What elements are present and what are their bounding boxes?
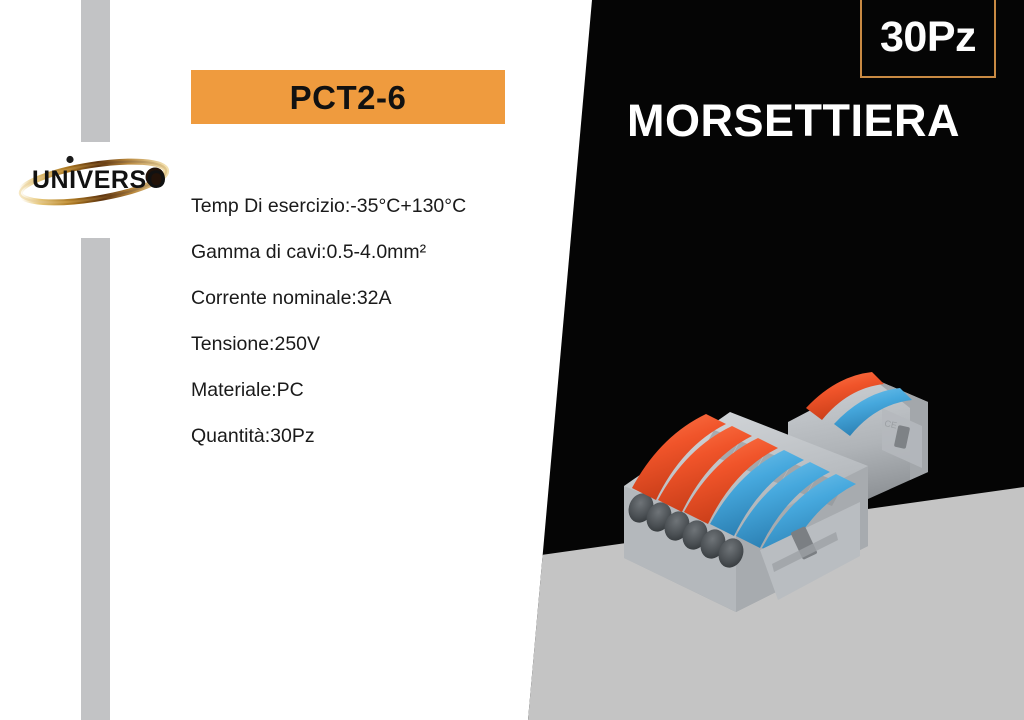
spec-line-quantity: Quantità:30Pz <box>191 427 551 447</box>
product-banner-canvas: UNIVERSO PCT2-6 Temp Di esercizio:-35°C+… <box>0 0 1024 720</box>
spec-line-rated-current: Corrente nominale:32A <box>191 289 551 309</box>
spec-line-cable-range: Gamma di cavi:0.5-4.0mm² <box>191 243 551 263</box>
page-title: MORSETTIERA <box>627 98 960 143</box>
model-code-text: PCT2-6 <box>290 81 407 114</box>
universo-logo: UNIVERSO <box>14 152 172 208</box>
spec-line-voltage: Tensione:250V <box>191 335 551 355</box>
left-vertical-rule-bottom <box>81 238 110 720</box>
spec-line-temperature: Temp Di esercizio:-35°C+130°C <box>191 197 551 217</box>
product-photo: CE <box>610 350 960 650</box>
quantity-badge-text: 30Pz <box>880 16 976 59</box>
left-vertical-rule-top <box>81 0 110 142</box>
model-code-banner: PCT2-6 <box>191 70 505 124</box>
spec-line-material: Materiale:PC <box>191 381 551 401</box>
specification-list: Temp Di esercizio:-35°C+130°C Gamma di c… <box>191 197 551 473</box>
quantity-badge: 30Pz <box>860 0 996 78</box>
logo-wordmark: UNIVERSO <box>32 166 167 194</box>
orbit-dot-small-icon <box>66 156 73 163</box>
